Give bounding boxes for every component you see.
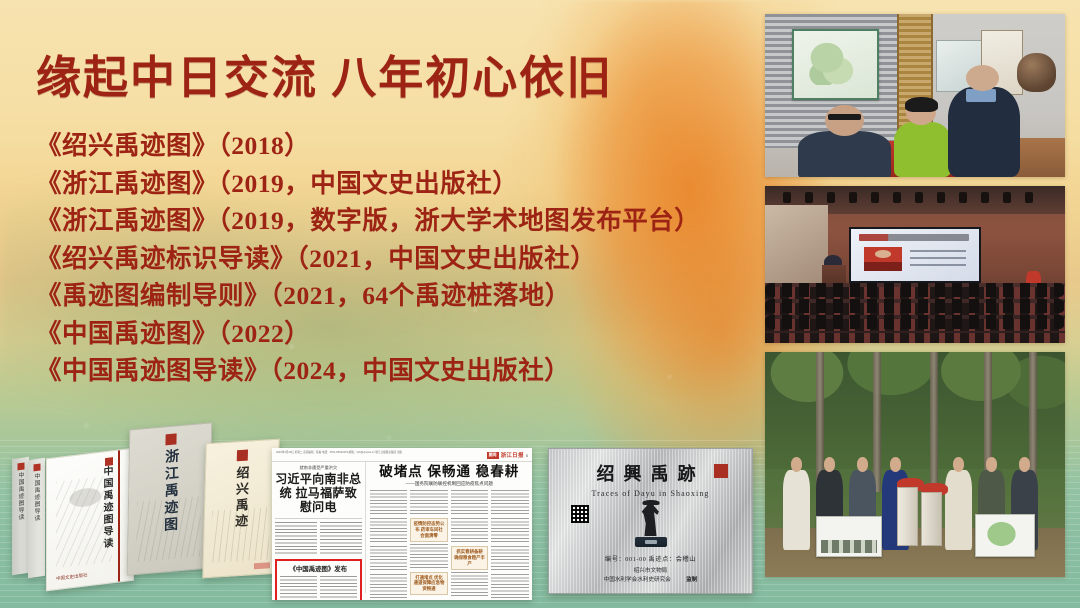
article-kicker: 就南非遭受严重洪灾 [275,465,362,471]
plaque-org-line: 中国水利学会水利史研究会 [604,577,671,583]
page-title: 缘起中日交流 八年初心依旧 [36,52,756,105]
seal-icon [17,462,24,470]
slide-title-bar [859,234,969,241]
list-item: 《禹迹图编制导则》（2021，64个禹迹桩落地） [36,277,756,315]
seal-icon [714,464,728,478]
book-cover-shaoxing-dayu: 绍兴禹迹 [202,439,280,579]
article-headline: 习近平向南非总统 拉马福萨致慰问电 [275,473,362,515]
text-column: 缘起中日交流 八年初心依旧 《绍兴禹迹图》（2018） 《浙江禹迹图》（2019… [36,52,756,390]
person-head [825,105,864,136]
list-item: 《中国禹迹图》（2022） [36,315,756,353]
display-board [816,516,882,557]
sidebar-box-title: 疫情防控态势公布 药审车间社会面清零 [413,521,445,538]
book-title: 中国禹迹图导读 [99,465,114,551]
plaque-code: 编号：001-00 禹迹点：会稽山 [549,554,752,563]
divider [275,518,362,519]
person-shirt [966,89,996,102]
list-item: 《浙江禹迹图》（2019，中国文史出版社） [36,165,756,203]
newspaper-header: 2022年3月29日 星期二 责任编辑：陈爽 电话：0571-85310479 … [272,448,532,462]
cover-line-drawing [136,496,201,562]
photo-column [765,14,1065,577]
article-grid: 疫情防控态势公布 药审车间社会面清零 打通堵点 优化通道保障应急物资畅通 抓实春… [370,490,529,600]
book-cover-zhejiang-dayu-map: 浙江禹迹图 [127,422,213,576]
highlighted-article: 《中国禹迹图》发布 [275,559,362,600]
qr-code-icon [571,505,589,523]
presentation-screen [849,227,981,284]
map-board [975,514,1035,557]
list-item: 《中国禹迹图导读》（2024，中国文史出版社） [36,352,756,390]
highlight-headline: 《中国禹迹图》发布 [280,564,357,573]
cover-line-drawing [211,507,270,563]
slide-text-lines [910,250,966,266]
newspaper-dateline: 2022年3月29日 星期二 责任编辑：陈爽 电话：0571-85310479 … [276,451,402,455]
publication-list: 《绍兴禹迹图》（2018） 《浙江禹迹图》（2019，中国文史出版社） 《浙江禹… [36,127,756,390]
person-hair [905,97,938,112]
newspaper-name: 浙江日报 [501,451,524,459]
seal-icon [165,433,176,445]
plaque-supervise-label: 监制 [686,576,697,585]
main-subheadline: ——国务院联防联控机制回应防疫焦点问题 [370,481,529,487]
person-body [894,122,951,177]
audience-seating [765,283,1065,343]
list-item: 《浙江禹迹图》（2019，数字版，浙大学术地图发布平台） [36,202,756,240]
person-figure [945,470,972,550]
sidebar-box-title: 打通堵点 优化通道保障应急物资畅通 [413,575,445,592]
dayu-trace-marker [921,492,942,546]
book-cover-china-dayu-guide: 中国禹迹图导读 中国文史出版社 [46,448,134,592]
list-item: 《绍兴禹迹标识导读》（2021，中国文史出版社） [36,240,756,278]
list-item: 《绍兴禹迹图》（2018） [36,127,756,165]
newspaper-body: 就南非遭受严重洪灾 习近平向南非总统 拉马福萨致慰问电 《中国禹迹图》发布 破堵… [272,462,532,593]
newspaper-right-column: 破堵点 保畅通 稳春耕 ——国务院联防联控机制回应防疫焦点问题 疫情防控态势公布… [366,462,532,593]
sidebar-box: 打通堵点 优化通道保障应急物资畅通 [410,572,448,595]
hall-side-wall [765,205,828,296]
publisher-name: 中国文史出版社 [56,572,88,582]
seal-icon [33,463,40,471]
person-body [798,131,891,177]
main-headline: 破堵点 保畅通 稳春耕 [370,465,529,480]
section-tag: 要闻 [487,452,499,459]
plaque-title: 绍興禹跡 [597,460,705,486]
slide-root: 缘起中日交流 八年初心依旧 《绍兴禹迹图》（2018） 《浙江禹迹图》（2019… [0,0,1080,608]
page-number: 5 [526,453,528,458]
dayu-trace-plaque: 绍興禹跡 Traces of Dayu in Shaoxing 编号：001-0… [548,448,753,594]
book-stack: 中国禹迹图导读 中国禹迹图导读 中国禹迹图导读 中国文史出版社 浙江禹迹图 绍兴… [6,444,274,594]
newspaper-clipping: 2022年3月29日 星期二 责任编辑：陈爽 电话：0571-85310479 … [272,448,532,600]
eyeglasses-icon [828,114,861,120]
museum-framed-map [792,29,879,101]
sidebar-box: 抓实春耕备耕 确保粮食稳产丰产 [451,546,489,569]
book-spine-title: 中国禹迹图导读 [32,473,41,523]
cover-red-band [118,450,120,581]
plaque-organizations: 绍兴市文物局 中国水利学会水利史研究会 监制 [549,567,752,585]
newspaper-left-column: 就南非遭受严重洪灾 习近平向南非总统 拉马福萨致慰问电 《中国禹迹图》发布 [272,462,366,593]
dayu-statue-icon [634,503,668,547]
person-head [966,65,999,91]
article-text [275,522,362,556]
museum-exhibition-photo [765,14,1065,177]
fieldwork-group-photo [765,352,1065,577]
dayu-trace-marker [897,487,918,546]
plaque-org-line: 绍兴市文物局 [549,567,752,576]
book-spine: 中国禹迹图导读 [28,458,45,578]
highlight-text [280,576,357,600]
book-spine-title: 中国禹迹图导读 [16,471,25,521]
slide-portrait [864,247,902,271]
sidebar-box-title: 抓实春耕备耕 确保粮食稳产丰产 [454,549,486,566]
newspaper-masthead: 要闻 浙江日报 5 [487,451,528,459]
seal-icon [237,450,248,462]
barcode-icon [254,562,270,569]
person-figure [783,470,810,550]
sidebar-box: 疫情防控态势公布 药审车间社会面清零 [410,518,448,541]
lecture-hall-photo [765,186,1065,343]
museum-bronze-vessel [1017,53,1056,92]
book-spine: 中国禹迹图导读 [12,457,29,575]
plaque-subtitle-en: Traces of Dayu in Shaoxing [549,489,752,498]
